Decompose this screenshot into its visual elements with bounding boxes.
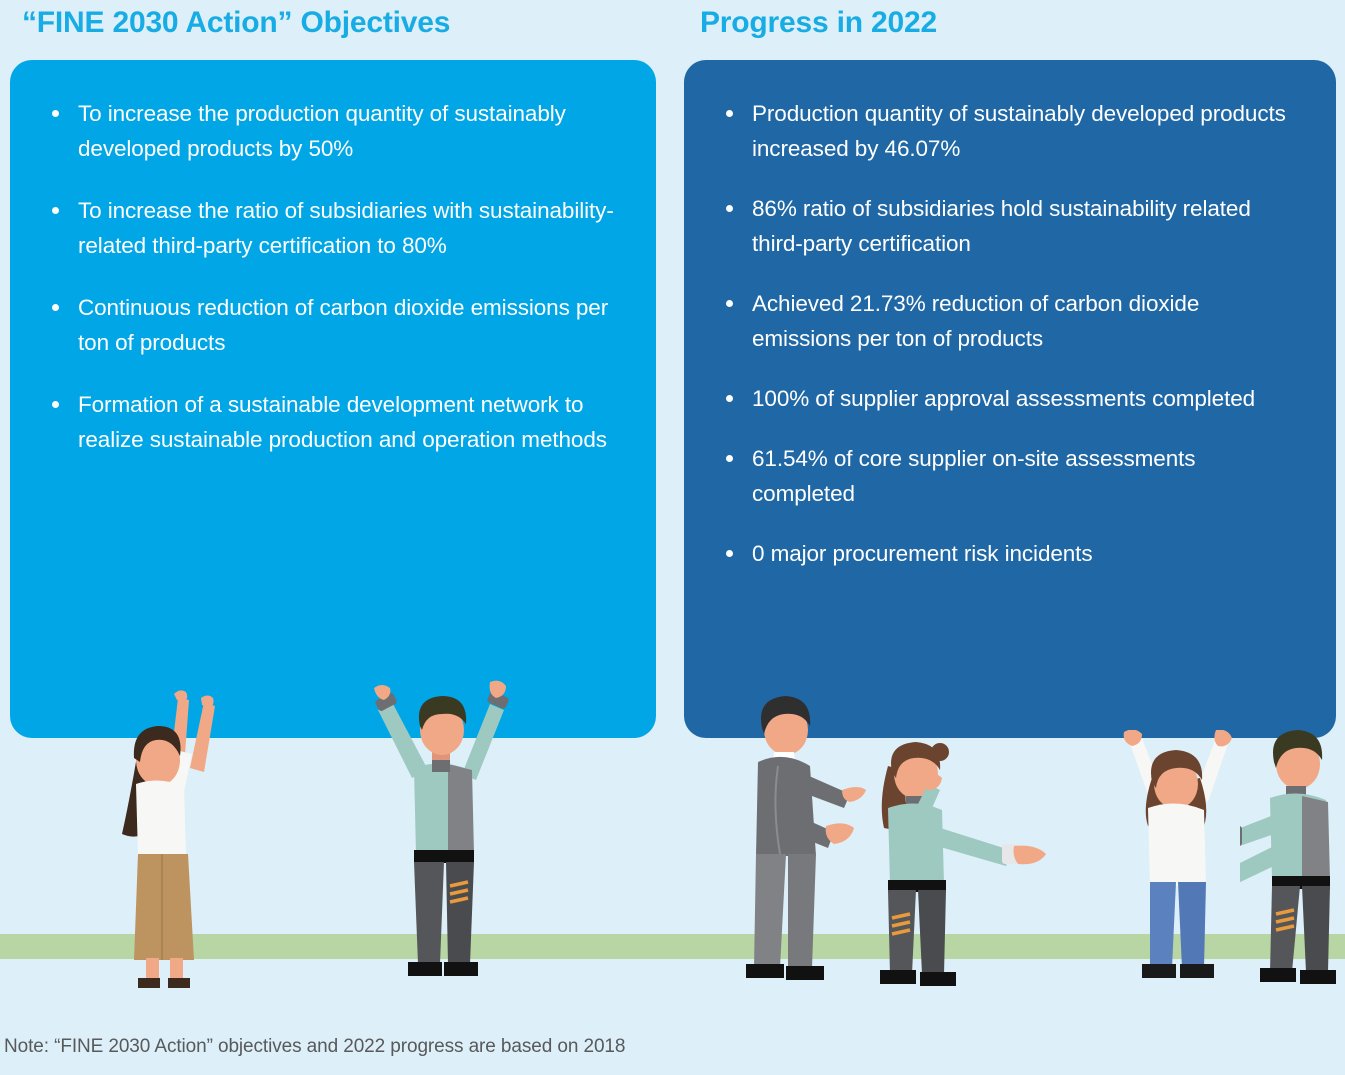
list-item: 100% of supplier approval assessments co… [714,381,1302,416]
figure-man-mint-top [1240,722,1345,992]
list-item: To increase the production quantity of s… [40,96,622,166]
progress-card: Production quantity of sustainably devel… [684,60,1336,738]
list-item: Production quantity of sustainably devel… [714,96,1302,166]
progress-heading: Progress in 2022 [700,6,937,40]
figure-woman-arms-raised [112,688,262,988]
figure-woman-mint-top [870,732,1060,994]
list-item: 0 major procurement risk incidents [714,536,1302,571]
list-item: 61.54% of core supplier on-site assessme… [714,441,1302,511]
figure-man-arms-raised [370,668,530,988]
infographic-page: “FINE 2030 Action” Objectives Progress i… [0,0,1345,1075]
objectives-card: To increase the production quantity of s… [10,60,656,738]
progress-bullet-list: Production quantity of sustainably devel… [714,96,1302,571]
list-item: Achieved 21.73% reduction of carbon diox… [714,286,1302,356]
objectives-bullet-list: To increase the production quantity of s… [40,96,622,457]
list-item: To increase the ratio of subsidiaries wi… [40,193,622,263]
objectives-heading: “FINE 2030 Action” Objectives [22,6,450,40]
list-item: 86% ratio of subsidiaries hold sustainab… [714,191,1302,261]
list-item: Continuous reduction of carbon dioxide e… [40,290,622,360]
footnote-text: Note: “FINE 2030 Action” objectives and … [4,1036,625,1058]
list-item: Formation of a sustainable development n… [40,387,622,457]
